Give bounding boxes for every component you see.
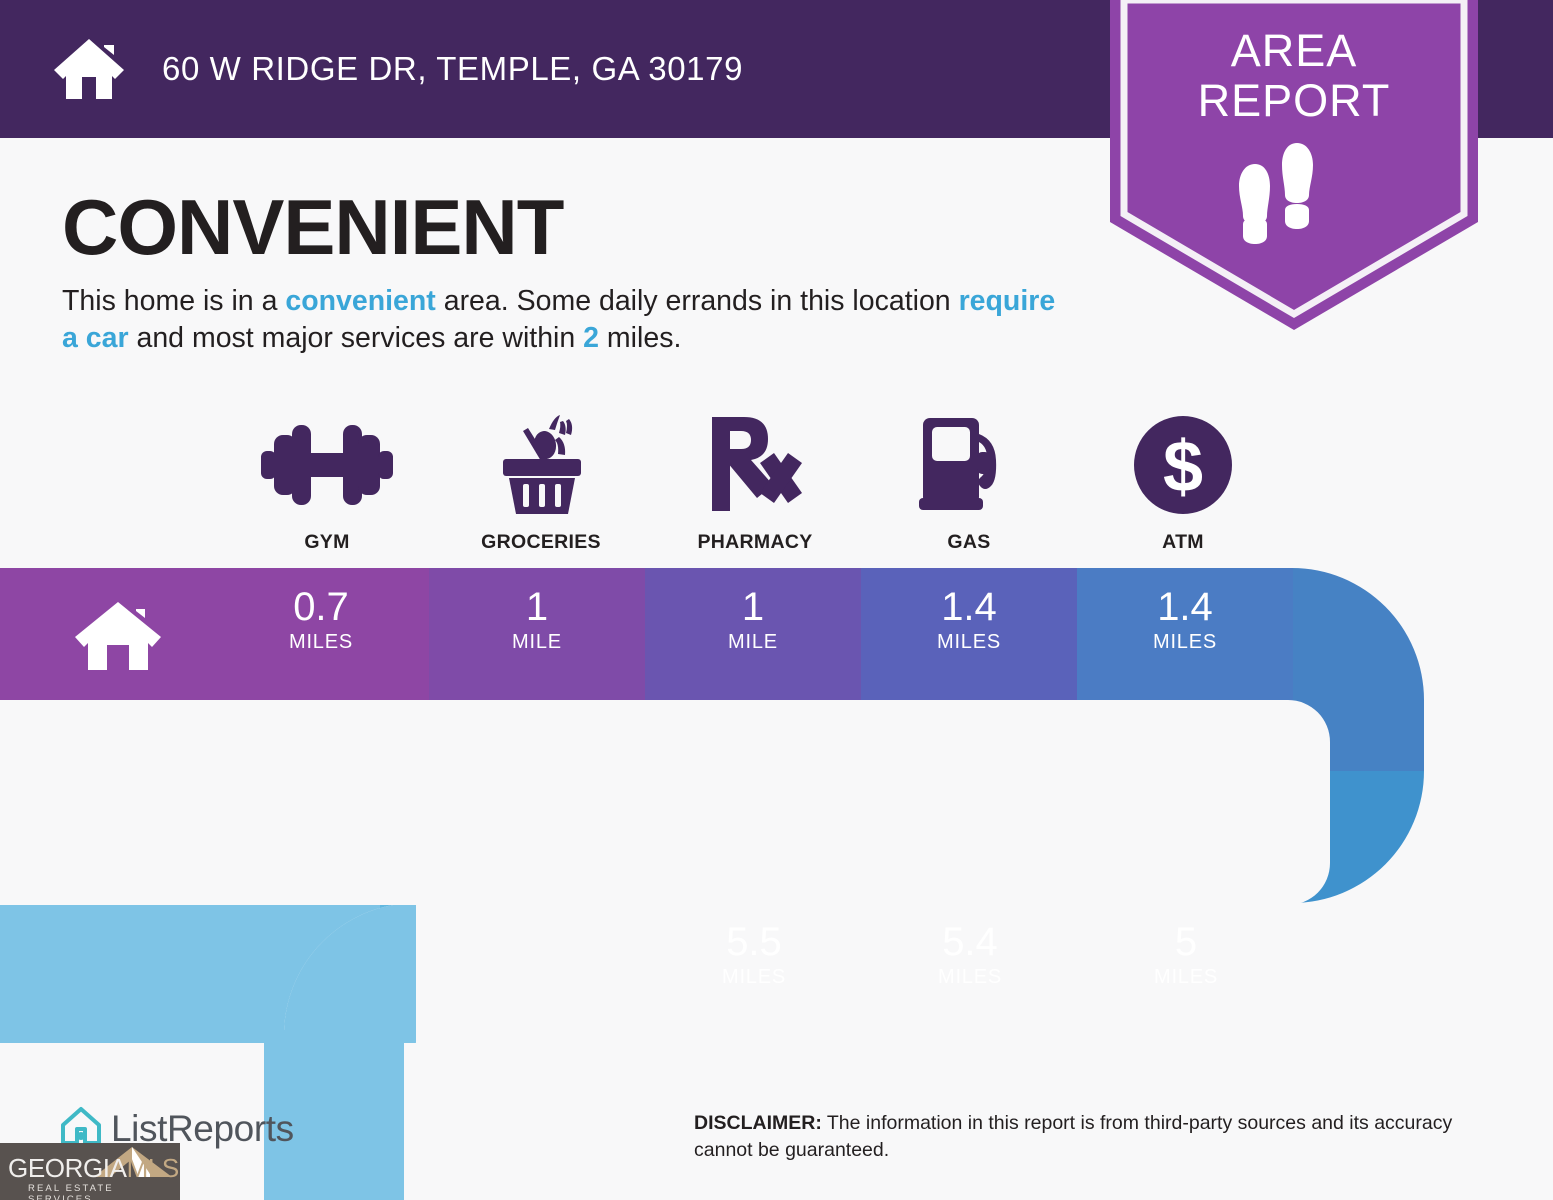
- distance-atm: 1.4 MILES: [1077, 585, 1293, 654]
- page-title: CONVENIENT: [62, 188, 563, 266]
- svg-text:$: $: [1163, 427, 1203, 507]
- distance-pharmacy: 1 MILE: [645, 585, 861, 654]
- connector-right-top: [1293, 568, 1553, 771]
- amenity-groceries: GROCERIES: [434, 415, 648, 554]
- amenity-atm-label: ATM: [1162, 531, 1204, 554]
- desc-accent-3: 2: [583, 322, 599, 354]
- description-text: This home is in a convenient area. Some …: [62, 283, 1072, 357]
- home-icon: [52, 37, 126, 101]
- disclaimer-label: DISCLAIMER:: [694, 1112, 822, 1134]
- distance-gym: 0.7 MILES: [213, 585, 429, 654]
- amenity-pharmacy-label: PHARMACY: [697, 531, 812, 554]
- distance-medical: 5.4 MILES: [862, 920, 1078, 989]
- banner-title-line2: REPORT: [1110, 76, 1478, 126]
- desc-part-2: area. Some daily errands in this locatio…: [436, 285, 959, 317]
- distance-cleaners-value: 5.5: [646, 920, 862, 964]
- home-marker-icon: [73, 600, 163, 672]
- distance-gas-unit: MILES: [861, 630, 1077, 654]
- property-address: 60 W RIDGE DR, TEMPLE, GA 30179: [162, 50, 743, 88]
- connector-right-bottom: [1293, 771, 1553, 941]
- distance-values-row-1: 0.7 MILES 1 MILE 1 MILE 1.4 MILES 1.4 MI…: [213, 585, 1293, 654]
- dumbbell-icon: [261, 415, 393, 515]
- distance-coffee-value: 5: [1078, 920, 1294, 964]
- amenity-gas: GAS: [862, 415, 1076, 554]
- distance-gas: 1.4 MILES: [861, 585, 1077, 654]
- banner-title: AREA REPORT: [1110, 26, 1478, 126]
- segment-row2-pad: [380, 903, 646, 1043]
- amenity-groceries-label: GROCERIES: [481, 531, 601, 554]
- distance-cleaners-unit: MILES: [646, 965, 862, 989]
- middle-cutout: [0, 700, 1330, 905]
- mls-wordmark: GEORGIAMLS: [8, 1153, 172, 1184]
- prescription-rx-icon: [708, 415, 802, 515]
- distance-pharmacy-unit: MILE: [645, 630, 861, 654]
- disclaimer: DISCLAIMER: The information in this repo…: [694, 1110, 1494, 1164]
- mls-georgia-text: GEORGIA: [8, 1153, 127, 1183]
- distance-gas-value: 1.4: [861, 585, 1077, 629]
- distance-medical-value: 5.4: [862, 920, 1078, 964]
- amenity-gym-label: GYM: [304, 531, 349, 554]
- desc-part-1: This home is in a: [62, 285, 285, 317]
- dollar-circle-icon: $: [1134, 415, 1232, 515]
- distance-coffee-unit: MILES: [1078, 965, 1294, 989]
- amenity-icon-row-1: GYM: [220, 415, 1292, 554]
- mls-tagline: REAL ESTATE SERVICES: [28, 1183, 180, 1200]
- amenity-pharmacy: PHARMACY: [648, 415, 862, 554]
- gas-pump-icon: [919, 415, 1019, 515]
- amenity-gas-label: GAS: [947, 531, 990, 554]
- distance-pharmacy-value: 1: [645, 585, 861, 629]
- georgia-mls-logo: GEORGIAMLS REAL ESTATE SERVICES: [0, 1143, 180, 1200]
- desc-part-4: miles.: [599, 322, 681, 354]
- grocery-basket-icon: [489, 415, 593, 515]
- distance-groceries-unit: MILE: [429, 630, 645, 654]
- mls-mls-text: MLS: [127, 1153, 179, 1183]
- amenity-atm: $ ATM: [1076, 415, 1290, 554]
- distance-coffee: 5 MILES: [1078, 920, 1294, 989]
- distance-values-row-2: 5.5 MILES 5.4 MILES 5 MILES: [646, 920, 1294, 989]
- distance-atm-value: 1.4: [1077, 585, 1293, 629]
- distance-gym-unit: MILES: [213, 630, 429, 654]
- area-report-banner: AREA REPORT: [1110, 0, 1478, 330]
- distance-cleaners: 5.5 MILES: [646, 920, 862, 989]
- distance-atm-unit: MILES: [1077, 630, 1293, 654]
- distance-groceries-value: 1: [429, 585, 645, 629]
- banner-title-line1: AREA: [1110, 26, 1478, 76]
- desc-part-3: and most major services are within: [129, 322, 584, 354]
- amenity-gym: GYM: [220, 415, 434, 554]
- distance-gym-value: 0.7: [213, 585, 429, 629]
- distance-groceries: 1 MILE: [429, 585, 645, 654]
- distance-medical-unit: MILES: [862, 965, 1078, 989]
- desc-accent-1: convenient: [285, 285, 435, 317]
